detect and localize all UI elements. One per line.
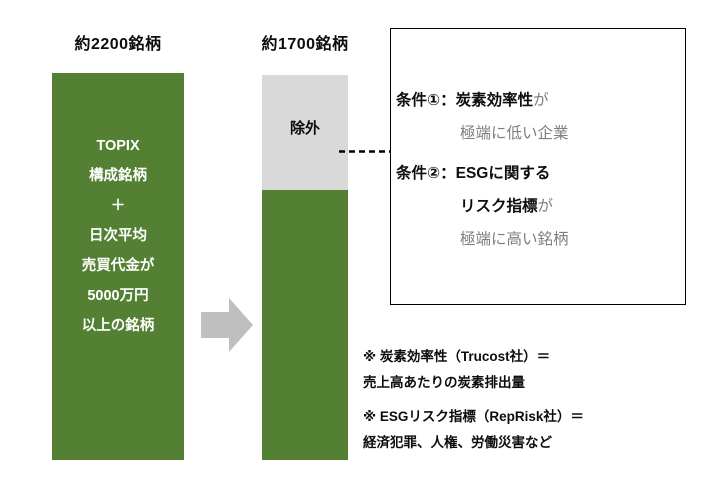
condition-1-line-2: 極端に低い企業 [396,117,682,150]
condition-2-line-2-soft: が [538,198,554,215]
condition-1: 条件①：炭素効率性が 極端に低い企業 [396,84,682,150]
condition-1-line-1: 条件①：炭素効率性が [396,84,682,117]
condition-1-line-1-strong: 条件①：炭素効率性 [396,92,533,109]
condition-1-line-1-soft: が [533,92,549,109]
condition-2-line-3-soft: 極端に高い銘柄 [460,231,569,248]
condition-2-line-1: 条件②：ESGに関する [396,157,682,190]
universe-bar-text: TOPIX 構成銘柄 ＋ 日次平均 売買代金が 5000万円 以上の銘柄 [52,131,184,341]
condition-2-line-2: リスク指標が [396,190,682,223]
right-arrow-icon [201,296,253,354]
universe-bar: TOPIX 構成銘柄 ＋ 日次平均 売買代金が 5000万円 以上の銘柄 [52,73,184,460]
condition-2-line-2-strong: リスク指標 [460,198,538,215]
dashed-connector-line [339,140,391,143]
footnote-esg-risk: ※ ESGリスク指標（RepRisk社）＝ 経済犯罪、人権、労働災害など [363,404,683,456]
condition-2-line-1-strong: 条件②：ESGに関する [396,165,550,182]
conditions-panel: 条件①：炭素効率性が 極端に低い企業 条件②：ESGに関する リスク指標が 極端… [390,28,686,305]
excluded-block: 除外 [262,75,348,190]
footnote-carbon-efficiency: ※ 炭素効率性（Trucost社）＝ 売上高あたりの炭素排出量 [363,344,683,396]
excluded-label: 除外 [262,117,348,138]
universe-count-label: 約2200銘柄 [52,30,184,54]
diagram-canvas: 約2200銘柄 約1700銘柄 TOPIX 構成銘柄 ＋ 日次平均 売買代金が … [0,0,704,494]
condition-1-line-2-soft: 極端に低い企業 [460,125,569,142]
selected-count-label: 約1700銘柄 [247,30,363,54]
selected-block [262,190,348,460]
condition-2-line-3: 極端に高い銘柄 [396,223,682,256]
condition-2: 条件②：ESGに関する リスク指標が 極端に高い銘柄 [396,157,682,256]
